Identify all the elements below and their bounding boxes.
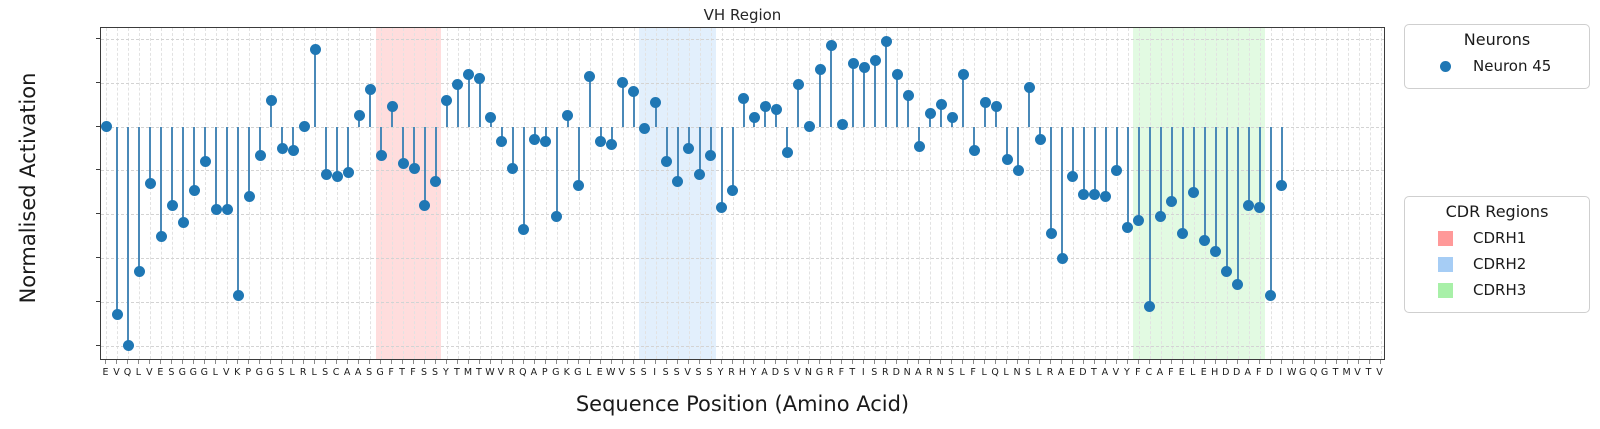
gridline-vertical xyxy=(809,28,810,359)
data-point-marker[interactable] xyxy=(134,266,145,277)
x-axis-tick-mark xyxy=(1017,360,1018,364)
data-point-marker[interactable] xyxy=(1035,134,1046,145)
gridline-vertical xyxy=(293,28,294,359)
data-point-marker[interactable] xyxy=(200,156,211,167)
gridline-vertical xyxy=(667,28,668,359)
data-point-marker[interactable] xyxy=(529,134,540,145)
stem-line xyxy=(347,127,349,173)
stem-line xyxy=(589,76,591,126)
gridline-vertical xyxy=(337,28,338,359)
data-point-marker[interactable] xyxy=(683,143,694,154)
data-point-marker[interactable] xyxy=(1024,82,1035,93)
data-point-marker[interactable] xyxy=(299,121,310,132)
gridline-vertical xyxy=(568,28,569,359)
gridline-horizontal xyxy=(101,302,1384,303)
stem-line xyxy=(1171,127,1173,201)
data-point-marker[interactable] xyxy=(376,150,387,161)
gridline-vertical xyxy=(513,28,514,359)
legend-cdrh1-label: CDRH1 xyxy=(1473,229,1526,247)
x-axis-tick-mark xyxy=(545,360,546,364)
gridline-vertical xyxy=(359,28,360,359)
stem-line xyxy=(116,127,118,315)
data-point-marker[interactable] xyxy=(1265,290,1276,301)
legend-item-neuron-45[interactable]: Neuron 45 xyxy=(1417,53,1577,79)
gridline-vertical xyxy=(326,28,327,359)
x-axis-tick-mark xyxy=(105,360,106,364)
stem-line xyxy=(721,127,723,208)
stem-line xyxy=(896,74,898,127)
data-point-marker[interactable] xyxy=(738,93,749,104)
data-point-marker[interactable] xyxy=(1046,228,1057,239)
gridline-vertical xyxy=(919,28,920,359)
x-axis-tick-mark xyxy=(303,360,304,364)
stem-line xyxy=(1226,127,1228,272)
x-axis-tick-mark xyxy=(819,360,820,364)
gridline-vertical xyxy=(403,28,404,359)
x-axis-tick-mark xyxy=(501,360,502,364)
x-axis-tick-mark xyxy=(512,360,513,364)
stem-line xyxy=(1105,127,1107,197)
x-axis-tick-mark xyxy=(688,360,689,364)
x-axis-tick-mark xyxy=(193,360,194,364)
gridline-vertical xyxy=(744,28,745,359)
x-axis-tick-mark xyxy=(314,360,315,364)
x-axis-tick-mark xyxy=(622,360,623,364)
data-point-marker[interactable] xyxy=(101,121,112,132)
stem-line xyxy=(874,61,876,127)
data-point-marker[interactable] xyxy=(1122,222,1133,233)
gridline-vertical xyxy=(1018,28,1019,359)
stem-line xyxy=(523,127,525,230)
gridline-vertical xyxy=(535,28,536,359)
stem-line xyxy=(1061,127,1063,258)
data-point-marker[interactable] xyxy=(244,191,255,202)
data-point-marker[interactable] xyxy=(123,340,134,351)
gridline-vertical xyxy=(447,28,448,359)
x-axis-tick-mark xyxy=(1094,360,1095,364)
stem-line xyxy=(457,85,459,127)
x-axis-tick-mark xyxy=(391,360,392,364)
gridline-vertical xyxy=(381,28,382,359)
data-point-marker[interactable] xyxy=(485,112,496,123)
x-axis-tick-mark xyxy=(556,360,557,364)
legend-cdr-regions: CDR Regions CDRH1 CDRH2 CDRH3 xyxy=(1404,196,1590,313)
gridline-vertical xyxy=(502,28,503,359)
gridline-vertical xyxy=(645,28,646,359)
x-axis-tick-mark xyxy=(336,360,337,364)
x-axis-tick-mark xyxy=(874,360,875,364)
data-point-marker[interactable] xyxy=(409,163,420,174)
x-axis-tick-mark xyxy=(1325,360,1326,364)
data-point-marker[interactable] xyxy=(233,290,244,301)
x-axis-tick-mark xyxy=(1204,360,1205,364)
x-axis-tick-mark xyxy=(1336,360,1337,364)
gridline-horizontal xyxy=(101,39,1384,40)
gridline-vertical xyxy=(491,28,492,359)
data-point-marker[interactable] xyxy=(815,64,826,75)
plot-area xyxy=(100,27,1385,360)
stem-line xyxy=(1050,127,1052,234)
x-axis-tick-mark xyxy=(215,360,216,364)
gridline-vertical xyxy=(1348,28,1349,359)
gridline-vertical xyxy=(798,28,799,359)
data-point-marker[interactable] xyxy=(914,141,925,152)
x-axis-tick-mark xyxy=(490,360,491,364)
x-axis-tick-mark xyxy=(1061,360,1062,364)
stem-line xyxy=(512,127,514,169)
gridline-vertical xyxy=(952,28,953,359)
stem-line xyxy=(149,127,151,184)
stem-line xyxy=(215,127,217,210)
x-axis-tick-mark xyxy=(259,360,260,364)
gridline-vertical xyxy=(612,28,613,359)
x-axis-tick-mark xyxy=(929,360,930,364)
x-axis-tick-mark xyxy=(984,360,985,364)
x-axis-tick-mark xyxy=(721,360,722,364)
stem-line xyxy=(1182,127,1184,234)
gridline-vertical xyxy=(842,28,843,359)
stem-line xyxy=(1028,87,1030,126)
data-point-marker[interactable] xyxy=(848,58,859,69)
stem-line xyxy=(1094,127,1096,195)
x-axis-tick-mark xyxy=(523,360,524,364)
data-point-marker[interactable] xyxy=(398,158,409,169)
x-axis-tick-mark xyxy=(1149,360,1150,364)
data-point-marker[interactable] xyxy=(804,121,815,132)
x-axis-label: Sequence Position (Amino Acid) xyxy=(100,392,1385,416)
x-axis-tick-mark xyxy=(369,360,370,364)
gridline-horizontal xyxy=(101,346,1384,347)
x-axis-tick-mark xyxy=(600,360,601,364)
legend-cdr-title: CDR Regions xyxy=(1417,202,1577,221)
data-point-marker[interactable] xyxy=(156,231,167,242)
data-point-marker[interactable] xyxy=(145,178,156,189)
gridline-vertical xyxy=(1293,28,1294,359)
gridline-vertical xyxy=(205,28,206,359)
data-point-marker[interactable] xyxy=(782,147,793,158)
data-point-marker[interactable] xyxy=(507,163,518,174)
x-axis-tick-mark xyxy=(1050,360,1051,364)
data-point-marker[interactable] xyxy=(321,169,332,180)
x-axis-tick-mark xyxy=(1358,360,1359,364)
data-point-marker[interactable] xyxy=(310,44,321,55)
stem-line xyxy=(885,41,887,126)
x-axis-tick-mark xyxy=(1160,360,1161,364)
stem-line xyxy=(248,127,250,197)
data-point-marker[interactable] xyxy=(760,101,771,112)
data-point-marker[interactable] xyxy=(562,110,573,121)
data-point-marker[interactable] xyxy=(1100,191,1111,202)
stem-line xyxy=(1270,127,1272,296)
data-point-marker[interactable] xyxy=(771,104,782,115)
gridline-vertical xyxy=(930,28,931,359)
stem-line xyxy=(1204,127,1206,241)
x-axis-tick-mark xyxy=(1270,360,1271,364)
legend-item-cdrh2[interactable]: CDRH2 xyxy=(1417,251,1577,277)
x-axis-tick-mark xyxy=(160,360,161,364)
data-point-marker[interactable] xyxy=(859,62,870,73)
x-axis-tick-mark xyxy=(951,360,952,364)
data-point-marker[interactable] xyxy=(518,224,529,235)
data-point-marker[interactable] xyxy=(551,211,562,222)
stem-line xyxy=(468,74,470,127)
stem-line xyxy=(797,85,799,127)
data-point-marker[interactable] xyxy=(881,36,892,47)
gridline-vertical xyxy=(1073,28,1074,359)
x-axis-tick-mark xyxy=(226,360,227,364)
data-point-marker[interactable] xyxy=(266,95,277,106)
data-point-marker[interactable] xyxy=(1013,165,1024,176)
stem-line xyxy=(138,127,140,272)
gridline-vertical xyxy=(908,28,909,359)
data-point-marker[interactable] xyxy=(332,171,343,182)
gridline-vertical xyxy=(106,28,107,359)
stem-line xyxy=(325,127,327,175)
gridline-vertical xyxy=(282,28,283,359)
gridline-vertical xyxy=(1326,28,1327,359)
data-point-marker[interactable] xyxy=(1276,180,1287,191)
data-point-marker[interactable] xyxy=(617,77,628,88)
x-axis-tick-mark xyxy=(1182,360,1183,364)
gridline-horizontal xyxy=(101,83,1384,84)
data-point-marker[interactable] xyxy=(969,145,980,156)
data-point-marker[interactable] xyxy=(628,86,639,97)
x-axis-tick-mark xyxy=(1347,360,1348,364)
data-point-marker[interactable] xyxy=(496,136,507,147)
stem-line xyxy=(1237,127,1239,285)
x-axis-tick-mark xyxy=(1127,360,1128,364)
cdrh3-swatch-icon xyxy=(1417,283,1473,298)
stem-line xyxy=(578,127,580,186)
data-point-marker[interactable] xyxy=(540,136,551,147)
data-point-marker[interactable] xyxy=(255,150,266,161)
gridline-vertical xyxy=(1359,28,1360,359)
data-point-marker[interactable] xyxy=(606,139,617,150)
x-axis-tick-mark xyxy=(764,360,765,364)
chart-title: VH Region xyxy=(100,6,1385,24)
data-point-marker[interactable] xyxy=(1221,266,1232,277)
legend-item-cdrh3[interactable]: CDRH3 xyxy=(1417,277,1577,303)
gridline-vertical xyxy=(1315,28,1316,359)
x-axis-tick-mark xyxy=(1215,360,1216,364)
stem-line xyxy=(1017,127,1019,171)
data-point-marker[interactable] xyxy=(936,99,947,110)
gridline-vertical xyxy=(579,28,580,359)
gridline-vertical xyxy=(700,28,701,359)
data-point-marker[interactable] xyxy=(1002,154,1013,165)
data-point-marker[interactable] xyxy=(826,40,837,51)
x-axis-tick-mark xyxy=(1083,360,1084,364)
neuron-marker-icon xyxy=(1417,61,1473,72)
stem-line xyxy=(1116,127,1118,171)
data-point-marker[interactable] xyxy=(365,84,376,95)
data-point-marker[interactable] xyxy=(354,110,365,121)
x-axis-tick-mark xyxy=(589,360,590,364)
x-axis-tick-label: V xyxy=(1373,367,1387,378)
x-axis-tick-mark xyxy=(797,360,798,364)
gridline-vertical xyxy=(974,28,975,359)
x-axis-tick-mark xyxy=(808,360,809,364)
x-axis-tick-mark xyxy=(1171,360,1172,364)
stem-line xyxy=(1259,127,1261,208)
x-axis-tick-mark xyxy=(424,360,425,364)
legend-neuron-label: Neuron 45 xyxy=(1473,57,1551,75)
x-axis-tick-mark xyxy=(1259,360,1260,364)
gridline-vertical xyxy=(776,28,777,359)
data-point-marker[interactable] xyxy=(892,69,903,80)
data-point-marker[interactable] xyxy=(1078,189,1089,200)
x-axis-tick-mark xyxy=(633,360,634,364)
x-axis-tick-mark xyxy=(138,360,139,364)
x-axis-tick-mark xyxy=(1028,360,1029,364)
x-axis-tick-mark xyxy=(248,360,249,364)
cdrh1-swatch-icon xyxy=(1417,231,1473,246)
cdrh2-swatch-icon xyxy=(1417,257,1473,272)
x-axis-tick-mark xyxy=(127,360,128,364)
data-point-marker[interactable] xyxy=(112,309,123,320)
data-point-marker[interactable] xyxy=(705,150,716,161)
data-point-marker[interactable] xyxy=(1067,171,1078,182)
stem-line xyxy=(336,127,338,177)
data-point-marker[interactable] xyxy=(672,176,683,187)
data-point-marker[interactable] xyxy=(343,167,354,178)
data-point-marker[interactable] xyxy=(716,202,727,213)
gridline-vertical xyxy=(689,28,690,359)
gridline-vertical xyxy=(1304,28,1305,359)
data-point-marker[interactable] xyxy=(925,108,936,119)
x-axis-tick-mark xyxy=(1006,360,1007,364)
x-axis-tick-mark xyxy=(281,360,282,364)
x-axis-tick-mark xyxy=(1072,360,1073,364)
stem-line xyxy=(699,127,701,175)
data-point-marker[interactable] xyxy=(749,112,760,123)
data-point-marker[interactable] xyxy=(727,185,738,196)
x-axis-tick-mark xyxy=(732,360,733,364)
gridline-vertical xyxy=(150,28,151,359)
stem-line xyxy=(237,127,239,296)
data-point-marker[interactable] xyxy=(903,90,914,101)
data-point-marker[interactable] xyxy=(947,112,958,123)
y-axis-label: Normalised Activation xyxy=(16,18,40,358)
gridline-vertical xyxy=(304,28,305,359)
x-axis-tick-mark xyxy=(1369,360,1370,364)
x-axis-tick-mark xyxy=(347,360,348,364)
gridline-vertical xyxy=(1381,28,1382,359)
data-point-marker[interactable] xyxy=(595,136,606,147)
x-axis-tick-mark xyxy=(1314,360,1315,364)
data-point-marker[interactable] xyxy=(1111,165,1122,176)
gridline-vertical xyxy=(1337,28,1338,359)
x-axis-tick-mark xyxy=(325,360,326,364)
gridline-vertical xyxy=(1117,28,1118,359)
stem-line xyxy=(160,127,162,237)
stem-line xyxy=(1083,127,1085,195)
x-axis-tick-mark xyxy=(182,360,183,364)
x-axis-tick-mark xyxy=(940,360,941,364)
gridline-vertical xyxy=(656,28,657,359)
data-point-marker[interactable] xyxy=(1057,253,1068,264)
data-point-marker[interactable] xyxy=(991,101,1002,112)
x-axis-tick-mark xyxy=(918,360,919,364)
x-axis-tick-mark xyxy=(1380,360,1381,364)
x-axis-tick-mark xyxy=(1226,360,1227,364)
gridline-vertical xyxy=(546,28,547,359)
data-point-marker[interactable] xyxy=(387,101,398,112)
data-point-marker[interactable] xyxy=(1166,196,1177,207)
x-axis-tick-mark xyxy=(1292,360,1293,364)
x-axis-tick-mark xyxy=(435,360,436,364)
gridline-vertical xyxy=(601,28,602,359)
data-point-marker[interactable] xyxy=(870,55,881,66)
gridline-vertical xyxy=(996,28,997,359)
gridline-vertical xyxy=(787,28,788,359)
data-point-marker[interactable] xyxy=(189,185,200,196)
data-point-marker[interactable] xyxy=(958,69,969,80)
data-point-marker[interactable] xyxy=(980,97,991,108)
data-point-marker[interactable] xyxy=(452,79,463,90)
x-axis-tick-mark xyxy=(973,360,974,364)
stem-line xyxy=(830,46,832,127)
legend-item-cdrh1[interactable]: CDRH1 xyxy=(1417,225,1577,251)
stem-line xyxy=(1281,127,1283,186)
x-axis-tick-mark xyxy=(402,360,403,364)
data-point-marker[interactable] xyxy=(573,180,584,191)
stem-line xyxy=(1127,127,1129,228)
data-point-marker[interactable] xyxy=(288,145,299,156)
x-axis-tick-mark xyxy=(666,360,667,364)
gridline-vertical xyxy=(765,28,766,359)
stem-line xyxy=(863,67,865,126)
gridline-vertical xyxy=(370,28,371,359)
gridline-vertical xyxy=(260,28,261,359)
gridline-vertical xyxy=(1282,28,1283,359)
stem-line xyxy=(193,127,195,191)
x-axis-tick-mark xyxy=(1281,360,1282,364)
gridline-vertical xyxy=(348,28,349,359)
stem-line xyxy=(819,70,821,127)
stem-line xyxy=(622,83,624,127)
stem-line xyxy=(479,78,481,126)
stem-line xyxy=(413,127,415,169)
gridline-vertical xyxy=(392,28,393,359)
gridline-horizontal xyxy=(101,258,1384,259)
stem-line xyxy=(369,89,371,126)
data-point-marker[interactable] xyxy=(584,71,595,82)
x-axis-tick-mark xyxy=(885,360,886,364)
data-point-marker[interactable] xyxy=(1232,279,1243,290)
stem-line xyxy=(962,74,964,127)
x-axis-tick-mark xyxy=(413,360,414,364)
x-axis-tick-mark xyxy=(270,360,271,364)
stem-line xyxy=(1160,127,1162,217)
data-point-marker[interactable] xyxy=(277,143,288,154)
stem-line xyxy=(127,127,129,346)
x-axis-tick-mark xyxy=(1116,360,1117,364)
gridline-vertical xyxy=(271,28,272,359)
legend-neurons-title: Neurons xyxy=(1417,30,1577,49)
x-axis-tick-mark xyxy=(1248,360,1249,364)
x-axis-tick-mark xyxy=(1138,360,1139,364)
data-point-marker[interactable] xyxy=(178,217,189,228)
data-point-marker[interactable] xyxy=(441,95,452,106)
data-point-marker[interactable] xyxy=(463,69,474,80)
data-point-marker[interactable] xyxy=(793,79,804,90)
gridline-horizontal xyxy=(101,214,1384,215)
data-point-marker[interactable] xyxy=(837,119,848,130)
x-axis-tick-mark xyxy=(699,360,700,364)
data-point-marker[interactable] xyxy=(1089,189,1100,200)
data-point-marker[interactable] xyxy=(167,200,178,211)
